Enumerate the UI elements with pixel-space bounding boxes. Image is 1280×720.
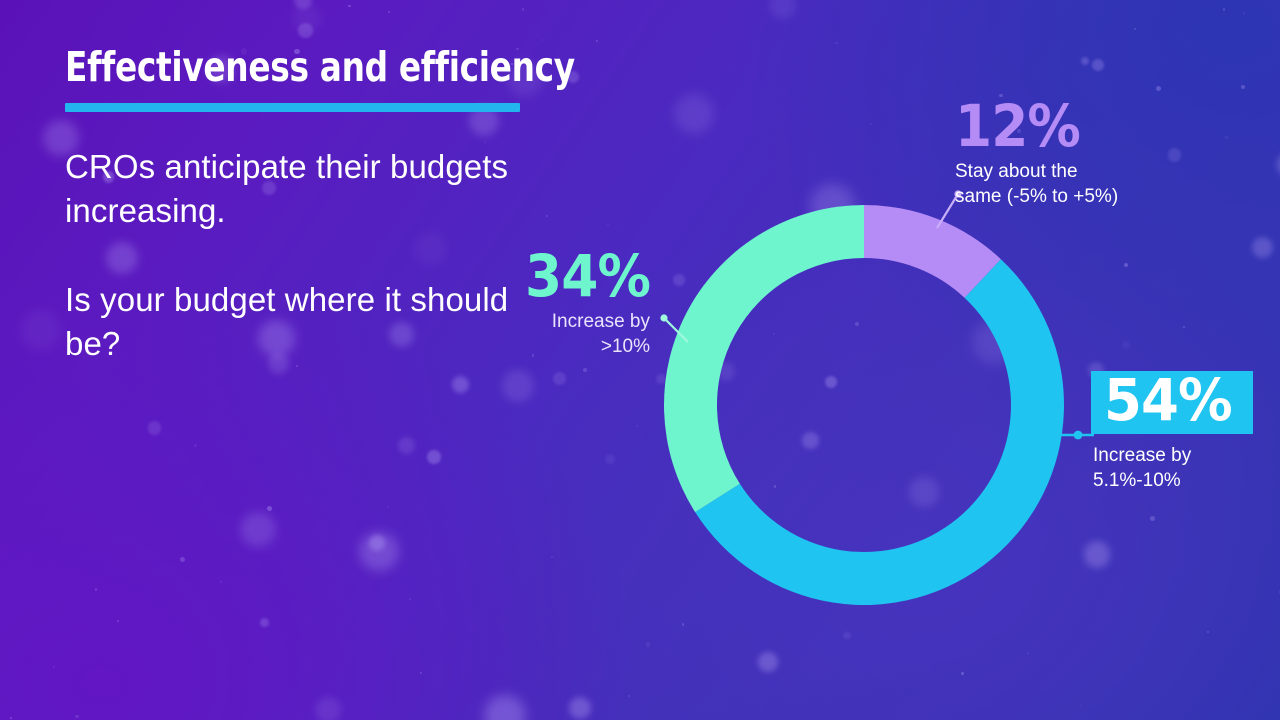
donut-chart [664,205,1064,605]
callout-stay-same: 12% Stay about the same (-5% to +5%) [955,100,1195,210]
page-title: Effectiveness and efficiency [65,46,449,89]
callout-label-line2: same (-5% to +5%) [955,184,1195,209]
callout-label-stay-same: Stay about the same (-5% to +5%) [955,159,1195,209]
callout-label-line2: >10% [430,334,650,359]
callout-label-increase-over-10: Increase by >10% [430,309,650,359]
callout-label-line1: Increase by [430,309,650,334]
callout-value-stay-same: 12% [955,100,1176,153]
callout-increase-over-10: 34% Increase by >10% [430,250,650,360]
callout-label-line2: 5.1%-10% [1093,468,1276,493]
callout-label-line1: Increase by [1093,443,1276,468]
title-underline-rule [65,103,520,112]
callout-increase-5-10: 54% Increase by 5.1%-10% [1091,371,1276,494]
slide-canvas: Effectiveness and efficiency CROs antici… [0,0,1280,720]
callout-label-increase-5-10: Increase by 5.1%-10% [1091,443,1276,493]
donut-chart-svg [664,205,1064,605]
paragraph-budgets-increasing: CROs anticipate their budgets increasing… [65,145,545,233]
callout-value-increase-5-10: 54% [1104,374,1232,427]
callout-value-increase-over-10: 34% [448,250,650,303]
callout-highlight-box: 54% [1091,371,1253,434]
callout-label-line1: Stay about the [955,159,1195,184]
donut-slice [664,205,864,512]
donut-slices [664,205,1064,605]
